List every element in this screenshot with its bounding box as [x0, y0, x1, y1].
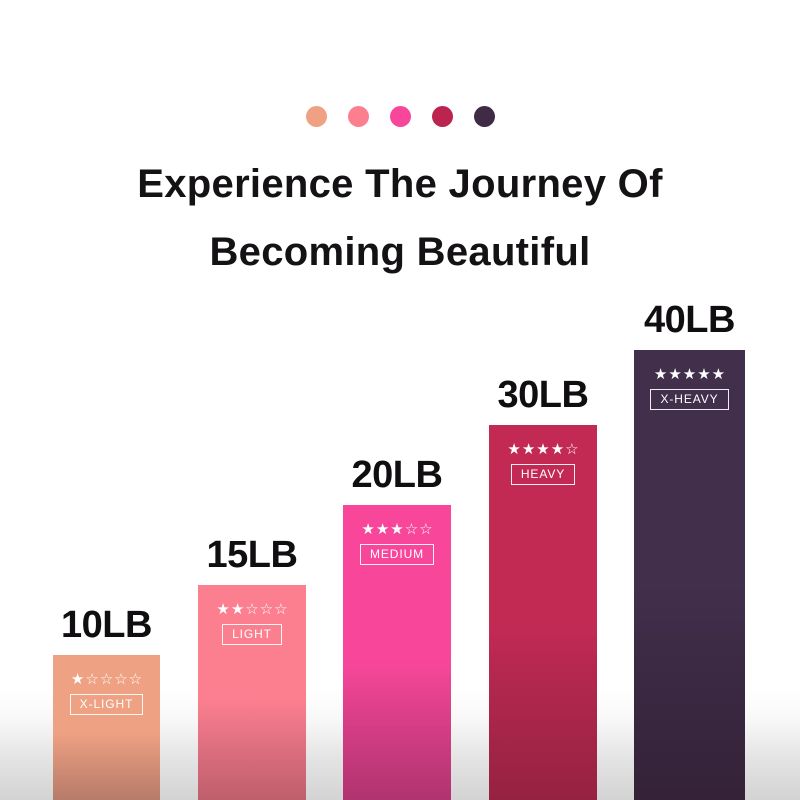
star-filled-icon: ★: [654, 367, 667, 382]
tier-badge: X-LIGHT: [70, 694, 144, 715]
bar-column-heavy: 30LB★★★★☆HEAVY: [489, 425, 597, 800]
bar-value-label: 20LB: [352, 454, 443, 497]
gap-reflection-2: [306, 650, 343, 800]
bar-column-medium: 20LB★★★☆☆MEDIUM: [343, 505, 451, 800]
rating-stars: ★☆☆☆☆: [71, 672, 142, 687]
star-empty-icon: ☆: [245, 602, 258, 617]
bar-column-x-heavy: 40LB★★★★★X-HEAVY: [634, 350, 745, 800]
bar-content: ★☆☆☆☆X-LIGHT: [53, 672, 160, 715]
star-filled-icon: ★: [668, 367, 681, 382]
star-empty-icon: ☆: [85, 672, 98, 687]
tier-badge: MEDIUM: [360, 544, 434, 565]
gap-reflection-1: [160, 650, 198, 800]
star-filled-icon: ★: [683, 367, 696, 382]
star-filled-icon: ★: [522, 442, 535, 457]
bar-value-label: 40LB: [644, 299, 735, 342]
star-empty-icon: ☆: [114, 672, 127, 687]
bar-value-label: 10LB: [61, 604, 152, 647]
bar-bottom-shadow: [634, 350, 745, 800]
gap-reflection-3: [451, 650, 489, 800]
rating-stars: ★★☆☆☆: [216, 602, 287, 617]
bar-fill: ★☆☆☆☆X-LIGHT: [53, 655, 160, 800]
gap-reflection-5: [745, 650, 800, 800]
star-filled-icon: ★: [71, 672, 84, 687]
bar-content: ★★☆☆☆LIGHT: [198, 602, 306, 645]
bar-fill: ★★★★★X-HEAVY: [634, 350, 745, 800]
star-filled-icon: ★: [216, 602, 229, 617]
bar-value-label: 15LB: [207, 534, 298, 577]
tier-badge: X-HEAVY: [650, 389, 728, 410]
star-filled-icon: ★: [507, 442, 520, 457]
bar-value-label: 30LB: [498, 374, 589, 417]
star-empty-icon: ☆: [405, 522, 418, 537]
star-empty-icon: ☆: [274, 602, 287, 617]
bar-column-x-light: 10LB★☆☆☆☆X-LIGHT: [53, 655, 160, 800]
star-empty-icon: ☆: [129, 672, 142, 687]
infographic-canvas: Experience The Journey Of Becoming Beaut…: [0, 0, 800, 800]
tier-badge: LIGHT: [222, 624, 282, 645]
star-filled-icon: ★: [712, 367, 725, 382]
star-filled-icon: ★: [551, 442, 564, 457]
rating-stars: ★★★★☆: [507, 442, 578, 457]
star-filled-icon: ★: [536, 442, 549, 457]
star-filled-icon: ★: [361, 522, 374, 537]
star-empty-icon: ☆: [419, 522, 432, 537]
star-filled-icon: ★: [390, 522, 403, 537]
gap-reflection-4: [597, 650, 634, 800]
resistance-bar-chart: 10LB★☆☆☆☆X-LIGHT15LB★★☆☆☆LIGHT20LB★★★☆☆M…: [0, 0, 800, 800]
star-filled-icon: ★: [231, 602, 244, 617]
bar-content: ★★★★★X-HEAVY: [634, 367, 745, 410]
star-empty-icon: ☆: [565, 442, 578, 457]
bar-fill: ★★★☆☆MEDIUM: [343, 505, 451, 800]
star-empty-icon: ☆: [260, 602, 273, 617]
bar-fill: ★★★★☆HEAVY: [489, 425, 597, 800]
gap-reflection-0: [0, 650, 53, 800]
bar-column-light: 15LB★★☆☆☆LIGHT: [198, 585, 306, 800]
bar-fill: ★★☆☆☆LIGHT: [198, 585, 306, 800]
bar-content: ★★★☆☆MEDIUM: [343, 522, 451, 565]
rating-stars: ★★★☆☆: [361, 522, 432, 537]
rating-stars: ★★★★★: [654, 367, 725, 382]
star-empty-icon: ☆: [100, 672, 113, 687]
star-filled-icon: ★: [697, 367, 710, 382]
bar-content: ★★★★☆HEAVY: [489, 442, 597, 485]
star-filled-icon: ★: [376, 522, 389, 537]
tier-badge: HEAVY: [511, 464, 575, 485]
